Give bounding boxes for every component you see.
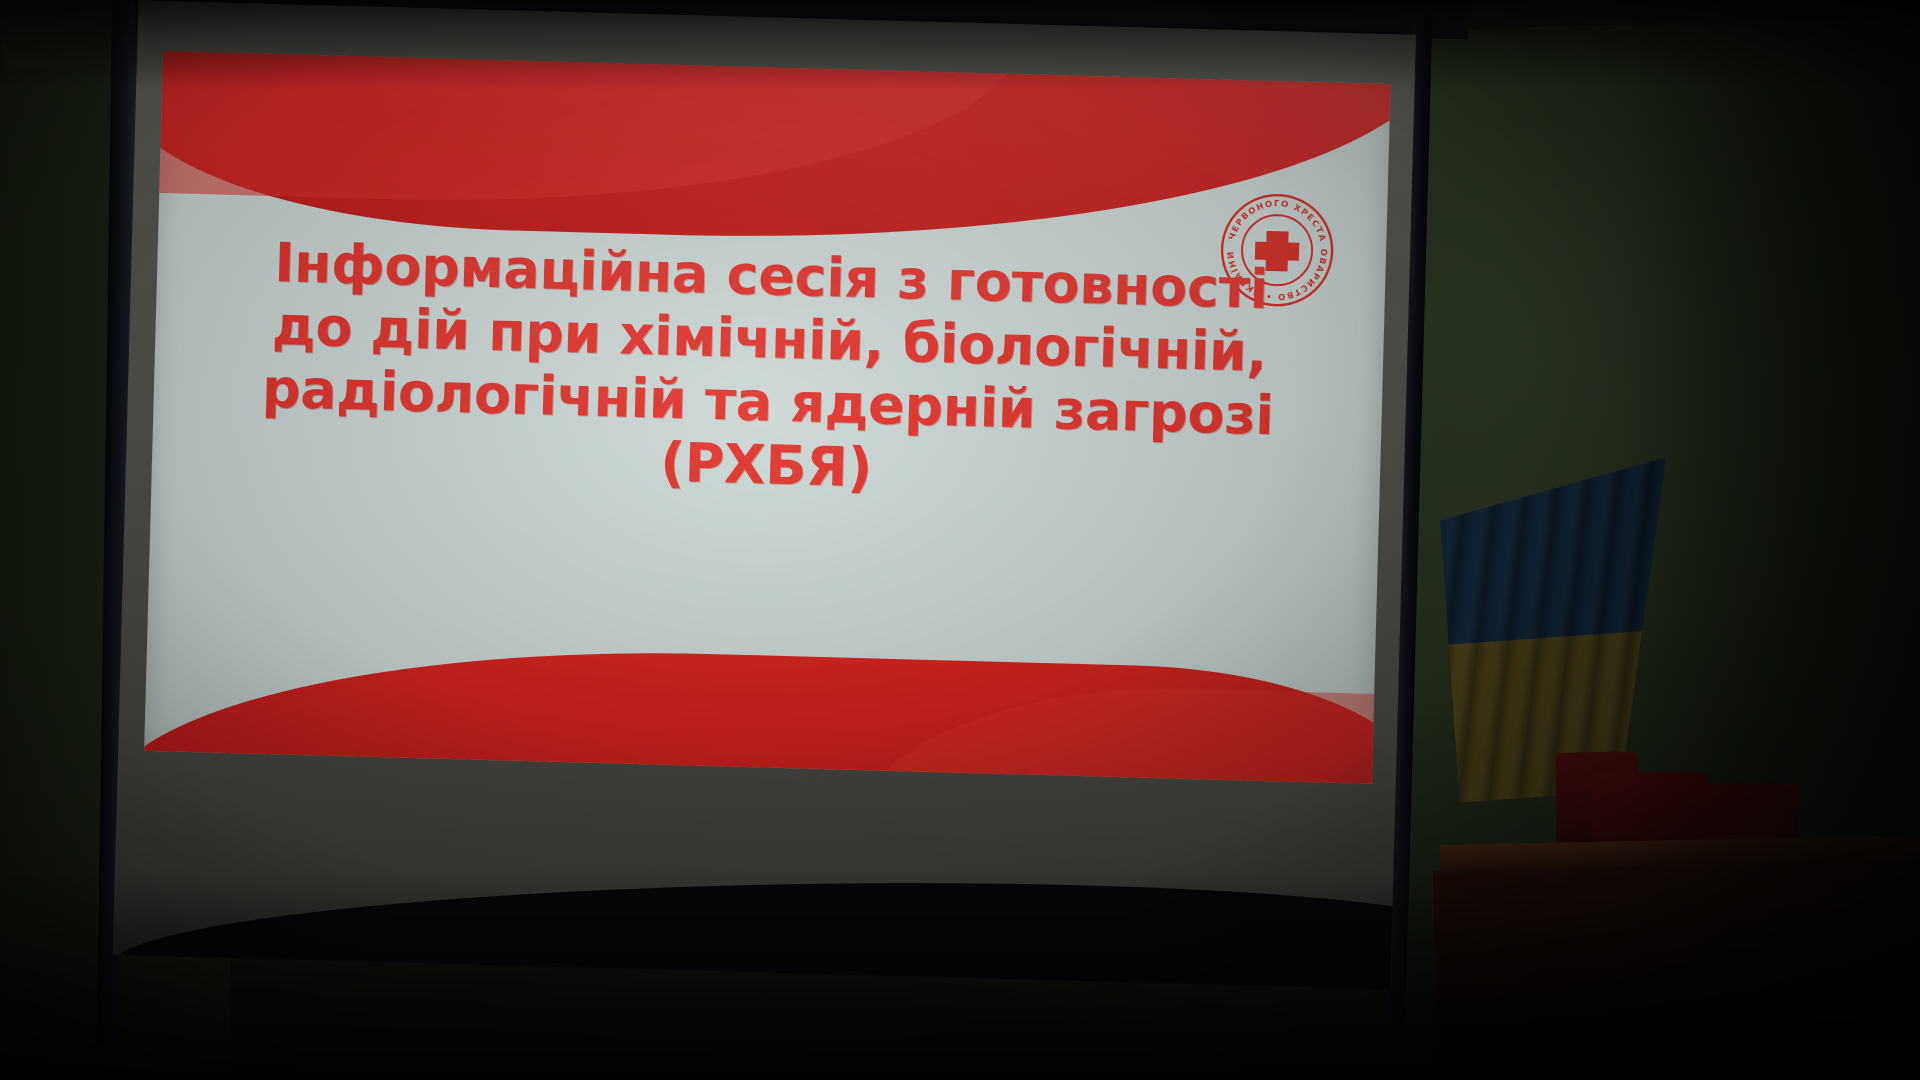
room-scene: ЧЕРВОНОГО ХРЕСТА ТОВАРИСТВО • УКРАЇНИ • …	[0, 0, 1920, 1080]
screen-surface: ЧЕРВОНОГО ХРЕСТА ТОВАРИСТВО • УКРАЇНИ • …	[113, 0, 1416, 989]
presentation-slide: ЧЕРВОНОГО ХРЕСТА ТОВАРИСТВО • УКРАЇНИ • …	[144, 51, 1390, 784]
wooden-table-front	[1433, 861, 1920, 1080]
slide-canvas: ЧЕРВОНОГО ХРЕСТА ТОВАРИСТВО • УКРАЇНИ • …	[144, 51, 1390, 784]
screen-bottom-shadow	[113, 873, 1416, 989]
projector-screen: ЧЕРВОНОГО ХРЕСТА ТОВАРИСТВО • УКРАЇНИ • …	[81, 0, 1491, 1080]
slide-title: Інформаційна сесія з готовності до дій п…	[203, 230, 1333, 512]
